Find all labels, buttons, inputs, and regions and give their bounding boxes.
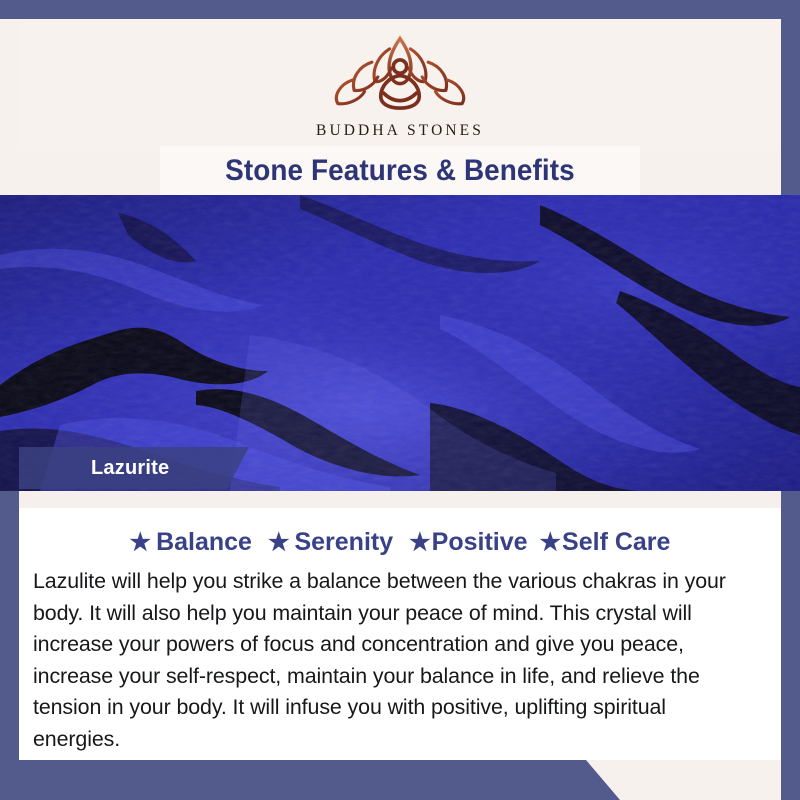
frame-left-band [0, 464, 19, 800]
frame-top-band [0, 0, 800, 19]
keyword-label: Positive [432, 528, 528, 557]
lotus-meditation-figure-logo-icon [326, 31, 474, 117]
keyword-serenity: ★ Serenity [268, 528, 393, 557]
stone-description: Lazulite will help you strike a balance … [33, 566, 749, 755]
keyword-list: ★ Balance ★ Serenity ★ Positive ★ Self C… [19, 528, 781, 557]
keyword-label: Balance [156, 528, 252, 557]
frame-bottom-band [0, 760, 620, 800]
stone-name-tag: Lazurite [19, 447, 249, 489]
stone-name: Lazurite [91, 457, 169, 480]
keyword-positive: ★ Positive [409, 528, 527, 557]
star-icon: ★ [268, 531, 290, 555]
title-banner: Stone Features & Benefits [160, 146, 640, 195]
star-icon: ★ [540, 531, 562, 555]
brand-logo: BUDDHA STONES [19, 19, 781, 150]
lazurite-texture-image [0, 195, 800, 491]
keyword-balance: ★ Balance [130, 528, 252, 557]
star-icon: ★ [409, 531, 431, 555]
keyword-label: Self Care [562, 528, 670, 557]
content-top-strip [19, 491, 781, 508]
stone-photo [0, 195, 800, 491]
infographic-card: BUDDHA STONES Stone Features & Benefits [0, 0, 800, 800]
brand-header: BUDDHA STONES [19, 19, 781, 150]
star-icon: ★ [130, 531, 152, 555]
page-title: Stone Features & Benefits [225, 154, 575, 188]
keyword-label: Serenity [294, 528, 393, 557]
brand-name: BUDDHA STONES [316, 122, 484, 140]
keyword-self-care: ★ Self Care [540, 528, 671, 557]
